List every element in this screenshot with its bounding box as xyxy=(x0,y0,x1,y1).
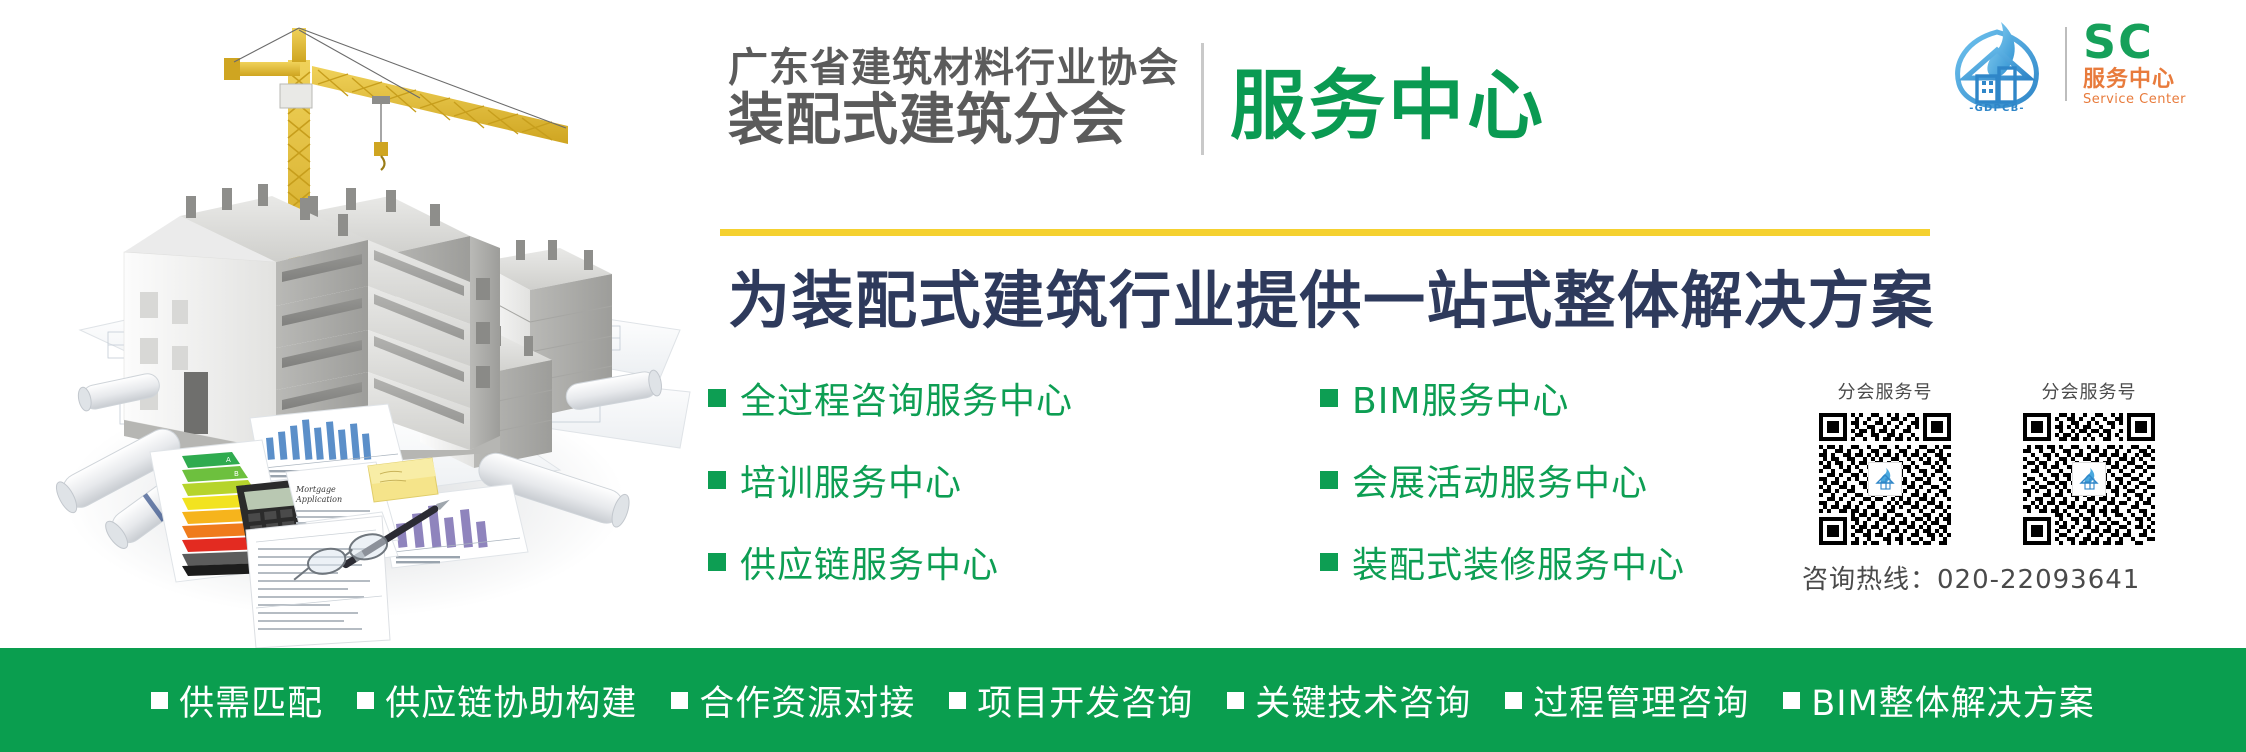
qr-code-cell-2[interactable]: 分会服务号 xyxy=(2004,378,2174,545)
services-column-left: 全过程咨询服务中心 培训服务中心 供应链服务中心 xyxy=(700,372,1120,588)
gdpcb-mark-text: -GDPCB- xyxy=(1969,103,2025,112)
footer-item-label: 过程管理咨询 xyxy=(1533,675,1749,726)
qr-code-cell-1[interactable]: 分会服务号 xyxy=(1800,378,1970,545)
footer-item-bim-total-solution[interactable]: BIM整体解决方案 xyxy=(1783,675,2095,726)
footer-item-label: 供应链协助构建 xyxy=(385,675,637,726)
hotline-text: 咨询热线：020-22093641 xyxy=(1800,559,2230,596)
square-bullet-icon xyxy=(357,692,374,709)
services-column-right: BIM服务中心 会展活动服务中心 装配式装修服务中心 xyxy=(1120,372,1560,588)
square-bullet-icon xyxy=(708,471,726,489)
service-item-prefab-decoration[interactable]: 装配式装修服务中心 xyxy=(1320,536,1560,588)
qr-code-icon[interactable] xyxy=(2023,413,2155,545)
footer-item-label: 项目开发咨询 xyxy=(977,675,1193,726)
service-item-bim[interactable]: BIM服务中心 xyxy=(1320,372,1560,424)
main-headline: 为装配式建筑行业提供一站式整体解决方案 xyxy=(728,250,1958,340)
qr-caption: 分会服务号 xyxy=(2042,378,2137,404)
service-center-title: 服务中心 xyxy=(1230,44,1546,154)
svg-text:Application: Application xyxy=(295,495,342,504)
service-item-supply-chain[interactable]: 供应链服务中心 xyxy=(708,536,1120,588)
footer-item-label: 关键技术咨询 xyxy=(1255,675,1471,726)
gdpcb-flame-house-icon: -GDPCB- xyxy=(1945,16,2049,112)
header-row: 广东省建筑材料行业协会 装配式建筑分会 服务中心 xyxy=(728,34,1968,164)
brand-logo: -GDPCB- SC 服务中心 Service Center xyxy=(1945,14,2245,114)
service-item-exhibition[interactable]: 会展活动服务中心 xyxy=(1320,454,1560,506)
footer-bar: 供需匹配 供应链协助构建 合作资源对接 项目开发咨询 关键技术咨询 过程管理咨询 xyxy=(0,648,2246,752)
brand-logo-divider xyxy=(2065,27,2067,101)
qr-code-icon[interactable] xyxy=(1819,413,1951,545)
qr-contact-block: 分会服务号 xyxy=(1800,378,2230,596)
service-item-full-process-consulting[interactable]: 全过程咨询服务中心 xyxy=(708,372,1120,424)
footer-item-project-development-consulting[interactable]: 项目开发咨询 xyxy=(949,675,1193,726)
square-bullet-icon xyxy=(151,692,168,709)
sc-letters: SC xyxy=(2083,21,2154,65)
service-item-training[interactable]: 培训服务中心 xyxy=(708,454,1120,506)
service-item-label: 培训服务中心 xyxy=(740,454,962,506)
footer-item-label: 合作资源对接 xyxy=(699,675,915,726)
association-name-block: 广东省建筑材料行业协会 装配式建筑分会 xyxy=(728,46,1179,151)
banner-content: 广东省建筑材料行业协会 装配式建筑分会 服务中心 xyxy=(700,0,2246,648)
qr-code-row: 分会服务号 xyxy=(1800,378,2230,545)
footer-item-key-technology-consulting[interactable]: 关键技术咨询 xyxy=(1227,675,1471,726)
svg-text:B: B xyxy=(234,470,239,478)
association-name-line2: 装配式建筑分会 xyxy=(728,91,1179,151)
sc-chinese-label: 服务中心 xyxy=(2083,67,2175,93)
square-bullet-icon xyxy=(1320,553,1338,571)
sc-mark: SC 服务中心 Service Center xyxy=(2083,21,2186,108)
footer-item-supply-demand-matching[interactable]: 供需匹配 xyxy=(151,675,323,726)
footer-item-supply-chain-support[interactable]: 供应链协助构建 xyxy=(357,675,637,726)
square-bullet-icon xyxy=(671,692,688,709)
square-bullet-icon xyxy=(1505,692,1522,709)
service-item-label: 装配式装修服务中心 xyxy=(1352,536,1685,588)
square-bullet-icon xyxy=(1783,692,1800,709)
square-bullet-icon xyxy=(1320,389,1338,407)
services-list: 全过程咨询服务中心 培训服务中心 供应链服务中心 BIM服务中心 xyxy=(700,372,1760,588)
sc-english-label: Service Center xyxy=(2083,93,2186,107)
footer-item-label: BIM整体解决方案 xyxy=(1811,675,2095,726)
sticky-note xyxy=(368,458,438,502)
header-vertical-divider xyxy=(1201,43,1204,155)
square-bullet-icon xyxy=(949,692,966,709)
gdpcb-logo-icon xyxy=(1868,462,1902,496)
construction-illustration: ABC DEF GHI xyxy=(0,0,700,648)
square-bullet-icon xyxy=(708,553,726,571)
footer-item-partner-resource-matching[interactable]: 合作资源对接 xyxy=(671,675,915,726)
qr-caption: 分会服务号 xyxy=(1838,378,1933,404)
square-bullet-icon xyxy=(1227,692,1244,709)
association-name-line1: 广东省建筑材料行业协会 xyxy=(728,46,1179,91)
banner-root: ABC DEF GHI xyxy=(0,0,2246,752)
service-item-label: 供应链服务中心 xyxy=(740,536,999,588)
svg-text:A: A xyxy=(226,456,231,464)
footer-item-label: 供需匹配 xyxy=(179,675,323,726)
square-bullet-icon xyxy=(708,389,726,407)
square-bullet-icon xyxy=(1320,471,1338,489)
service-item-label: 全过程咨询服务中心 xyxy=(740,372,1073,424)
svg-text:Mortgage: Mortgage xyxy=(295,485,336,494)
construction-scene-graphic: ABC DEF GHI xyxy=(0,0,700,648)
footer-items: 供需匹配 供应链协助构建 合作资源对接 项目开发咨询 关键技术咨询 过程管理咨询 xyxy=(151,675,2095,726)
service-item-label: 会展活动服务中心 xyxy=(1352,454,1648,506)
gdpcb-logo-icon xyxy=(2072,462,2106,496)
service-item-label: BIM服务中心 xyxy=(1352,372,1569,424)
footer-item-process-management-consulting[interactable]: 过程管理咨询 xyxy=(1505,675,1749,726)
gold-divider-rule xyxy=(720,229,1930,236)
